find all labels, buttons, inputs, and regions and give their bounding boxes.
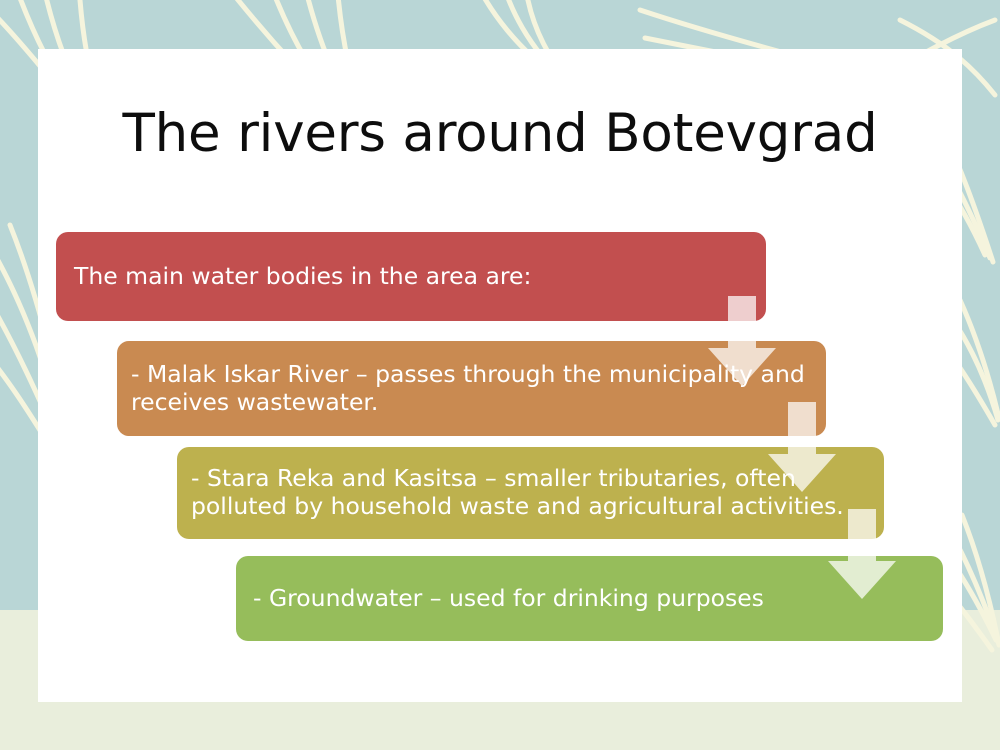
list-item-label: The main water bodies in the area are: xyxy=(56,263,766,291)
down-arrow-icon xyxy=(826,509,898,601)
down-arrow-icon xyxy=(706,296,778,388)
down-arrow-icon xyxy=(766,402,838,494)
slide: The rivers around Botevgrad The main wat… xyxy=(0,0,1000,750)
chevron-list: The main water bodies in the area are: -… xyxy=(0,0,1000,750)
list-item[interactable]: The main water bodies in the area are: xyxy=(56,232,766,321)
